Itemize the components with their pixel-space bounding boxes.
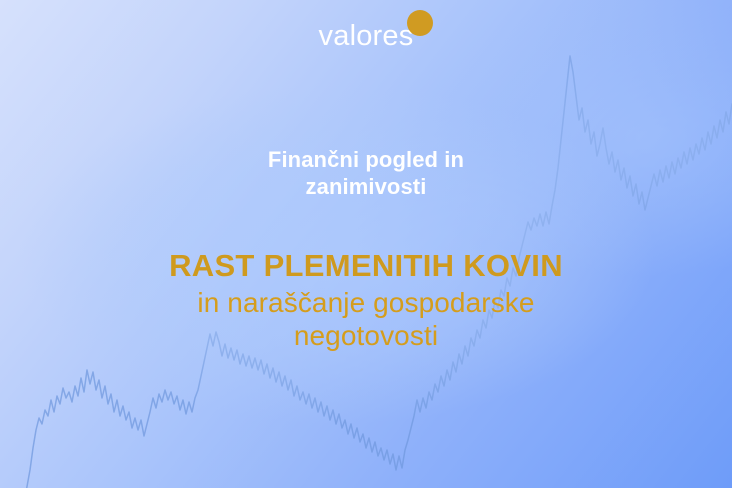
kicker-text: Finančni pogled in zanimivosti xyxy=(216,146,516,201)
headline-primary: RAST PLEMENITIH KOVIN xyxy=(169,249,563,284)
slide-content: Finančni pogled in zanimivosti RAST PLEM… xyxy=(0,0,732,488)
headline-secondary: in naraščanje gospodarske negotovosti xyxy=(151,287,581,352)
slide-canvas: valores Finančni pogled in zanimivosti R… xyxy=(0,0,732,488)
